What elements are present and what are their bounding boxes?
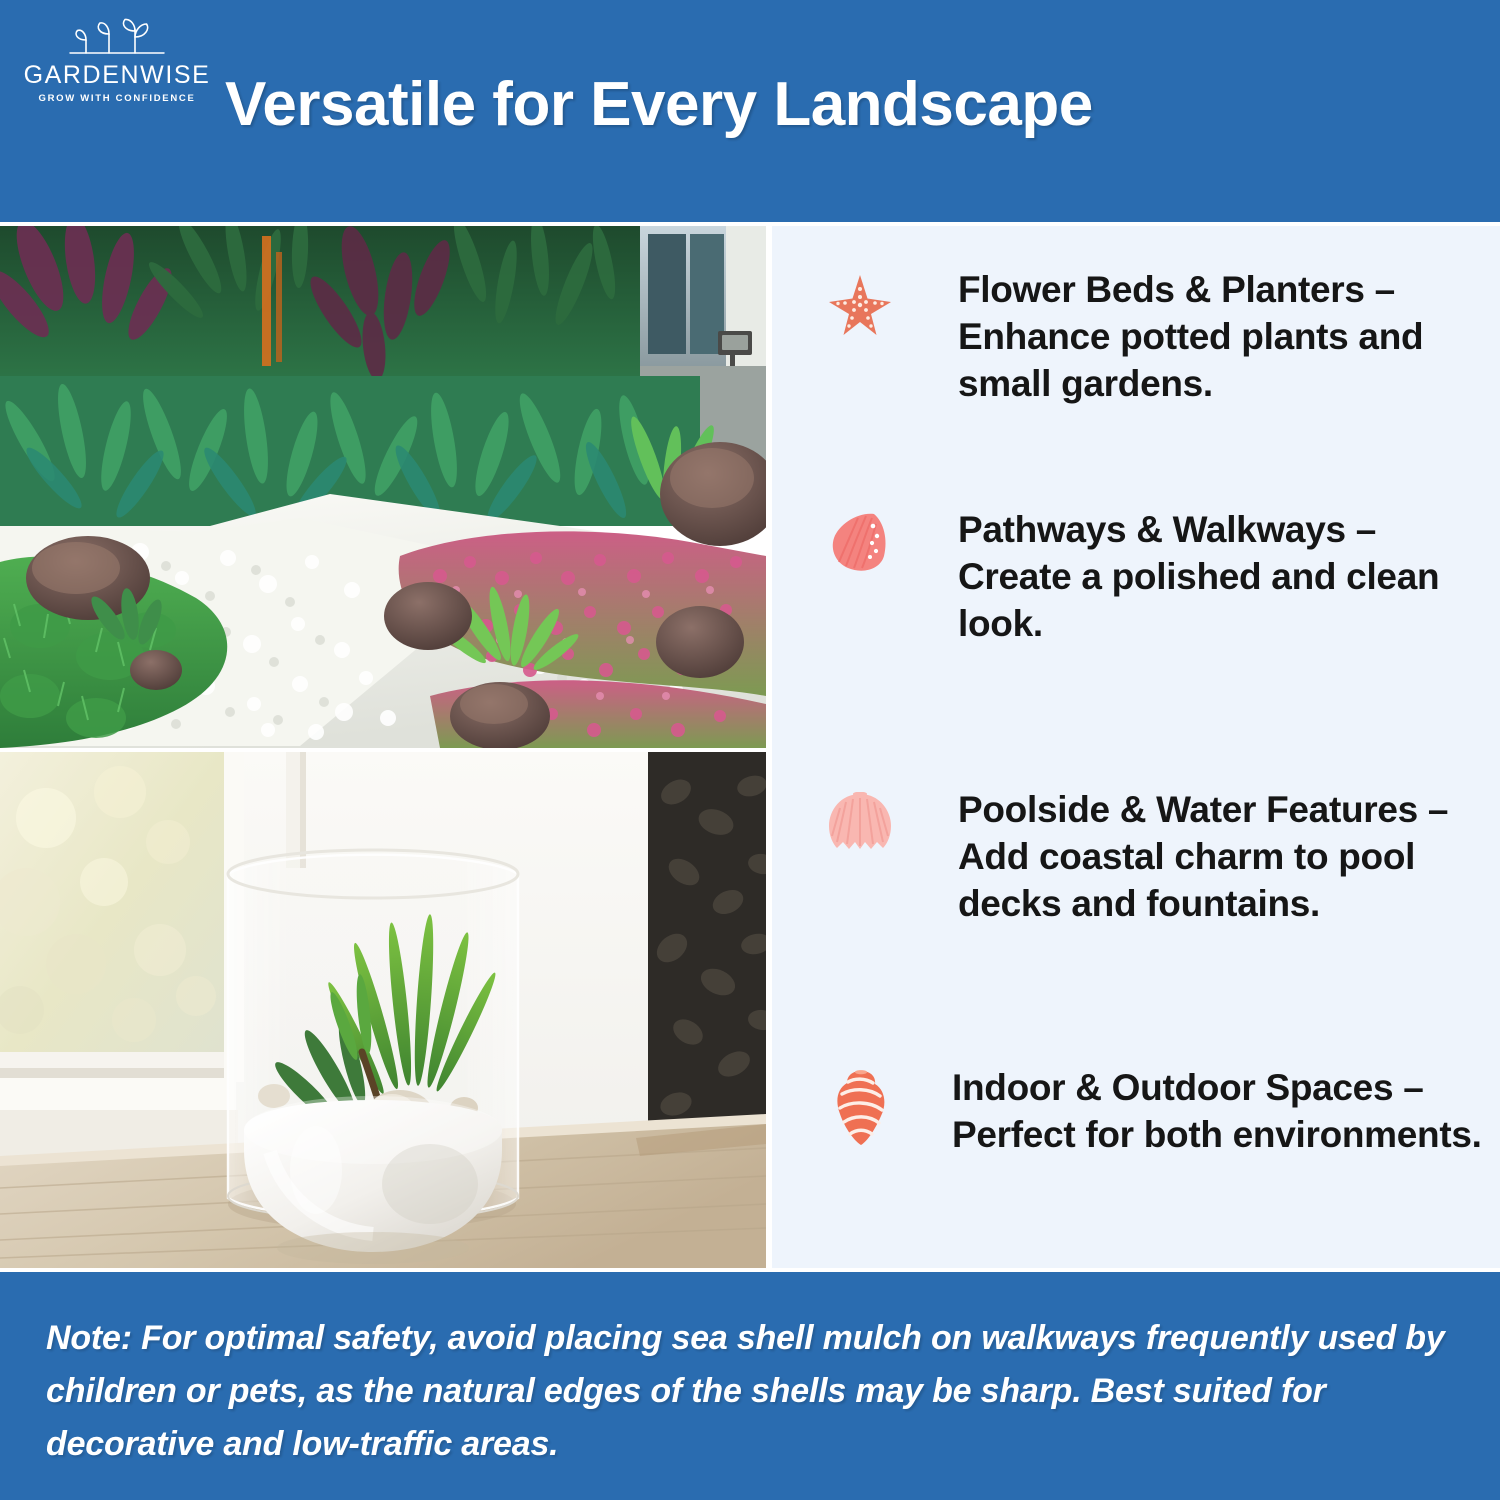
page-title: Versatile for Every Landscape [225,70,1480,140]
photo-column [0,226,766,1268]
benefit-text: Pathways & Walkways – Create a polished … [958,506,1478,647]
benefit-item-flower-beds: Flower Beds & Planters – Enhance potted … [824,266,1496,407]
scallop-shell-icon [824,786,896,870]
infographic-page: GARDENWISE GROW WITH CONFIDENCE Versatil… [0,0,1500,1500]
glass-cylinder-planter-on-windowsill [0,752,766,1268]
header-banner: GARDENWISE GROW WITH CONFIDENCE Versatil… [0,0,1500,222]
benefit-item-pathways: Pathways & Walkways – Create a polished … [824,506,1496,647]
tropical-garden-with-white-gravel-path [0,226,766,748]
benefit-text: Flower Beds & Planters – Enhance potted … [958,266,1478,407]
content-area: Flower Beds & Planters – Enhance potted … [0,226,1500,1268]
starfish-icon [824,266,896,350]
conch-shell-icon [824,1064,896,1148]
benefit-text: Poolside & Water Features – Add coastal … [958,786,1478,927]
benefit-text: Indoor & Outdoor Spaces – Perfect for bo… [952,1064,1492,1158]
brand-name: GARDENWISE [24,61,211,89]
brand-logo: GARDENWISE GROW WITH CONFIDENCE [12,16,222,111]
benefits-panel: Flower Beds & Planters – Enhance potted … [772,226,1500,1268]
brand-tagline: GROW WITH CONFIDENCE [39,92,196,106]
footer-banner: Note: For optimal safety, avoid placing … [0,1272,1500,1500]
benefit-item-indoor-outdoor: Indoor & Outdoor Spaces – Perfect for bo… [824,1064,1496,1158]
clam-shell-icon [824,506,896,590]
safety-note: Note: For optimal safety, avoid placing … [46,1312,1466,1471]
benefit-item-poolside: Poolside & Water Features – Add coastal … [824,786,1496,927]
sprouting-plants-icon [52,16,182,60]
